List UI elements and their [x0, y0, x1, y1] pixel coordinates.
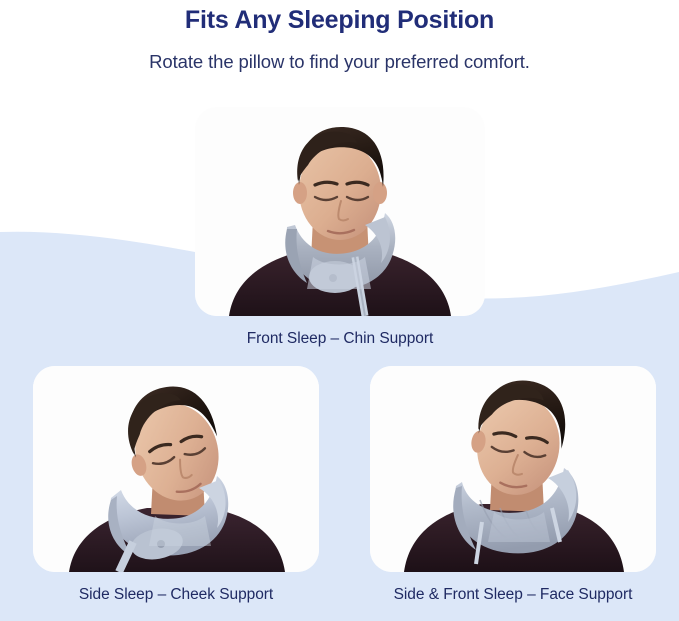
page-title: Fits Any Sleeping Position [0, 0, 679, 36]
promo-panel: Fits Any Sleeping Position Rotate the pi… [0, 0, 679, 621]
header: Fits Any Sleeping Position Rotate the pi… [0, 0, 679, 73]
card-front-sleep[interactable] [195, 107, 485, 316]
photo-front-sleep [195, 107, 485, 316]
card-side-sleep[interactable] [33, 366, 319, 572]
photo-side-sleep [33, 366, 319, 572]
caption-side-front-sleep: Side & Front Sleep – Face Support [358, 586, 668, 605]
photo-side-front-sleep [370, 366, 656, 572]
caption-front-sleep: Front Sleep – Chin Support [195, 330, 485, 349]
card-side-front-sleep[interactable] [370, 366, 656, 572]
caption-side-sleep: Side Sleep – Cheek Support [24, 586, 328, 605]
page-subtitle: Rotate the pillow to find your preferred… [0, 36, 679, 73]
